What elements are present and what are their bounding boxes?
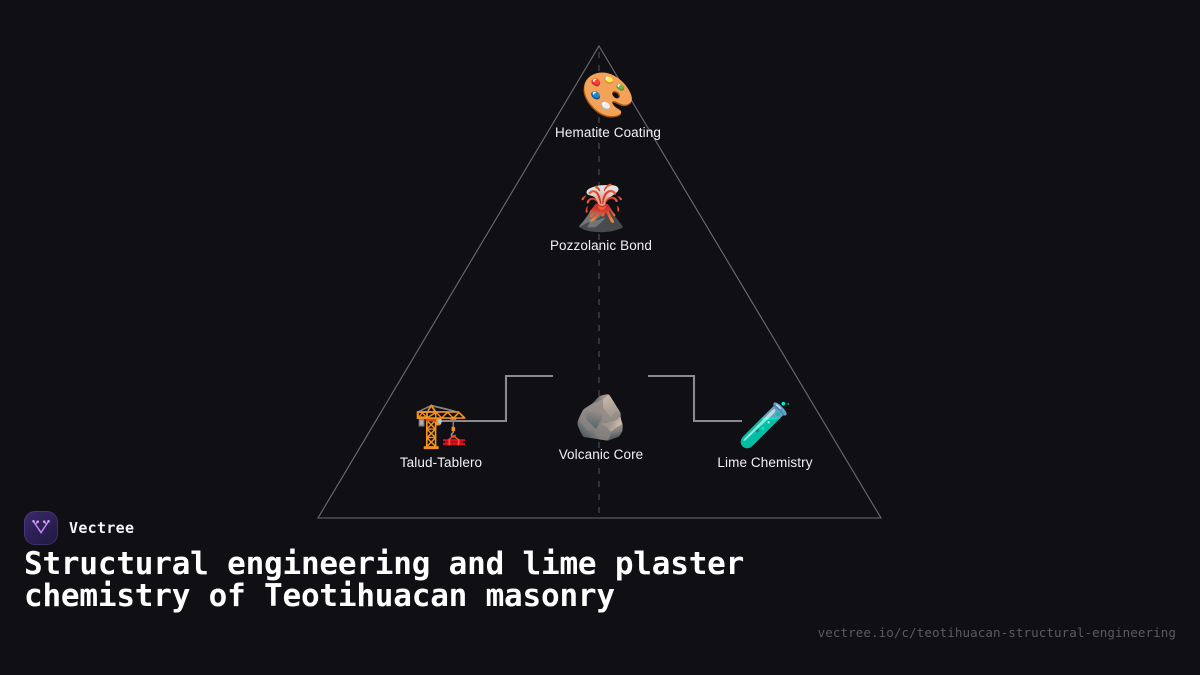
node-label: Pozzolanic Bond [516,238,686,254]
artist-palette-icon: 🎨 [523,74,693,118]
node-label: Talud-Tablero [356,455,526,471]
building-construction-crane-icon: 🏗️ [356,404,526,448]
slide-canvas: 🎨 Hematite Coating 🌋 Pozzolanic Bond 🏗️ … [0,0,1200,675]
vectree-logo-badge [24,511,58,545]
brand-name: Vectree [69,519,134,537]
brand-lockup[interactable]: Vectree [24,511,134,545]
node-volcanic-core[interactable]: 🪨 Volcanic Core [516,396,686,463]
node-pozzolanic-bond[interactable]: 🌋 Pozzolanic Bond [516,187,686,254]
node-label: Hematite Coating [523,125,693,141]
node-label: Lime Chemistry [680,455,850,471]
node-lime-chemistry[interactable]: 🧪 Lime Chemistry [680,404,850,471]
node-hematite-coating[interactable]: 🎨 Hematite Coating [523,74,693,141]
volcano-icon: 🌋 [516,187,686,231]
page-title: Structural engineering and lime plaster … [24,548,764,612]
node-label: Volcanic Core [516,447,686,463]
rock-icon: 🪨 [516,396,686,440]
share-url: vectree.io/c/teotihuacan-structural-engi… [818,625,1176,640]
vectree-branch-v-icon [30,517,52,539]
test-tube-icon: 🧪 [680,404,850,448]
node-talud-tablero[interactable]: 🏗️ Talud-Tablero [356,404,526,471]
